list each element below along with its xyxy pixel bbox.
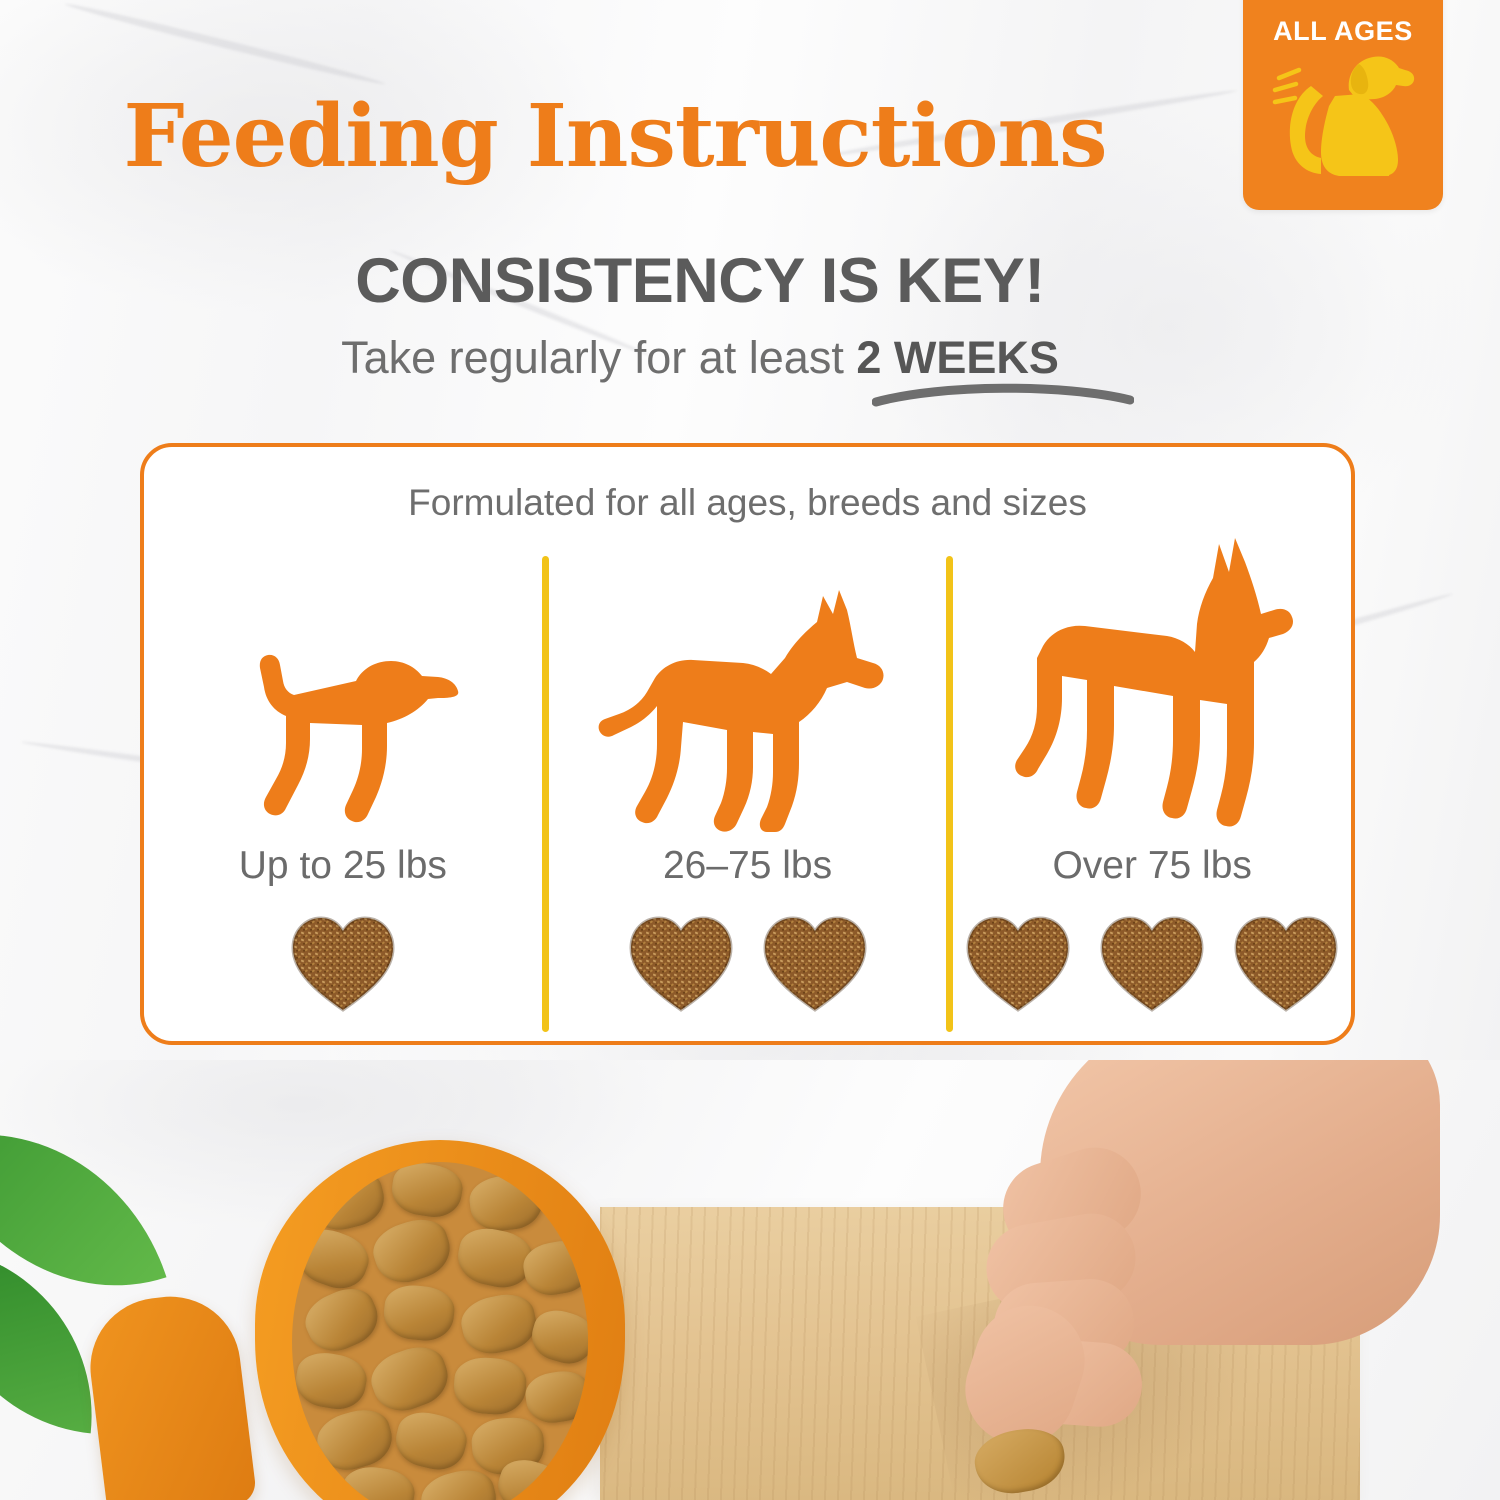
sitting-dog-icon (1265, 46, 1421, 182)
all-ages-badge: ALL AGES (1243, 0, 1443, 210)
column-divider-2 (946, 556, 953, 1032)
tagline-prefix: Take regularly for at least (341, 332, 856, 383)
kibble-heart-icon (625, 910, 737, 1014)
card-note: Formulated for all ages, breeds and size… (144, 482, 1351, 524)
kibble-heart-icon (287, 910, 399, 1014)
medium-dog-wrap (595, 542, 901, 832)
hand-holding-kibble (980, 1060, 1450, 1425)
column-divider-1 (542, 556, 549, 1032)
large-dog-icon (1007, 534, 1297, 832)
kibble-heart-icon (1096, 910, 1208, 1014)
badge-label: ALL AGES (1243, 16, 1443, 47)
subheading-consistency: CONSISTENCY IS KEY! (0, 245, 1400, 317)
size-label-small: Up to 25 lbs (239, 844, 447, 888)
kibble-heart-icon (962, 910, 1074, 1014)
measuring-cup-handle (82, 1289, 257, 1500)
size-label-large: Over 75 lbs (1052, 844, 1251, 888)
kibble-heart-icon (1230, 910, 1342, 1014)
large-dog-wrap (1007, 542, 1297, 832)
small-dog-wrap (222, 542, 464, 832)
size-column-large: Over 75 lbs (953, 542, 1351, 1042)
small-dog-icon (222, 647, 464, 832)
serving-hearts-medium (625, 910, 871, 1014)
tagline: Take regularly for at least 2 WEEKS (0, 332, 1400, 384)
underline-swoosh-icon (872, 382, 1134, 408)
size-label-medium: 26–75 lbs (663, 844, 832, 888)
size-column-medium: 26–75 lbs (549, 542, 947, 1042)
size-column-small: Up to 25 lbs (144, 542, 542, 1042)
page-title: Feeding Instructions (0, 86, 1230, 187)
serving-hearts-large (962, 910, 1342, 1014)
tagline-emphasis: 2 WEEKS (856, 332, 1059, 383)
kibble-in-cup (292, 1162, 588, 1500)
kibble-heart-icon (759, 910, 871, 1014)
feeding-chart-card: Formulated for all ages, breeds and size… (140, 443, 1355, 1045)
size-columns: Up to 25 lbs (144, 542, 1351, 1042)
medium-dog-icon (595, 582, 901, 832)
serving-hearts-small (287, 910, 399, 1014)
product-photo (0, 1060, 1500, 1500)
